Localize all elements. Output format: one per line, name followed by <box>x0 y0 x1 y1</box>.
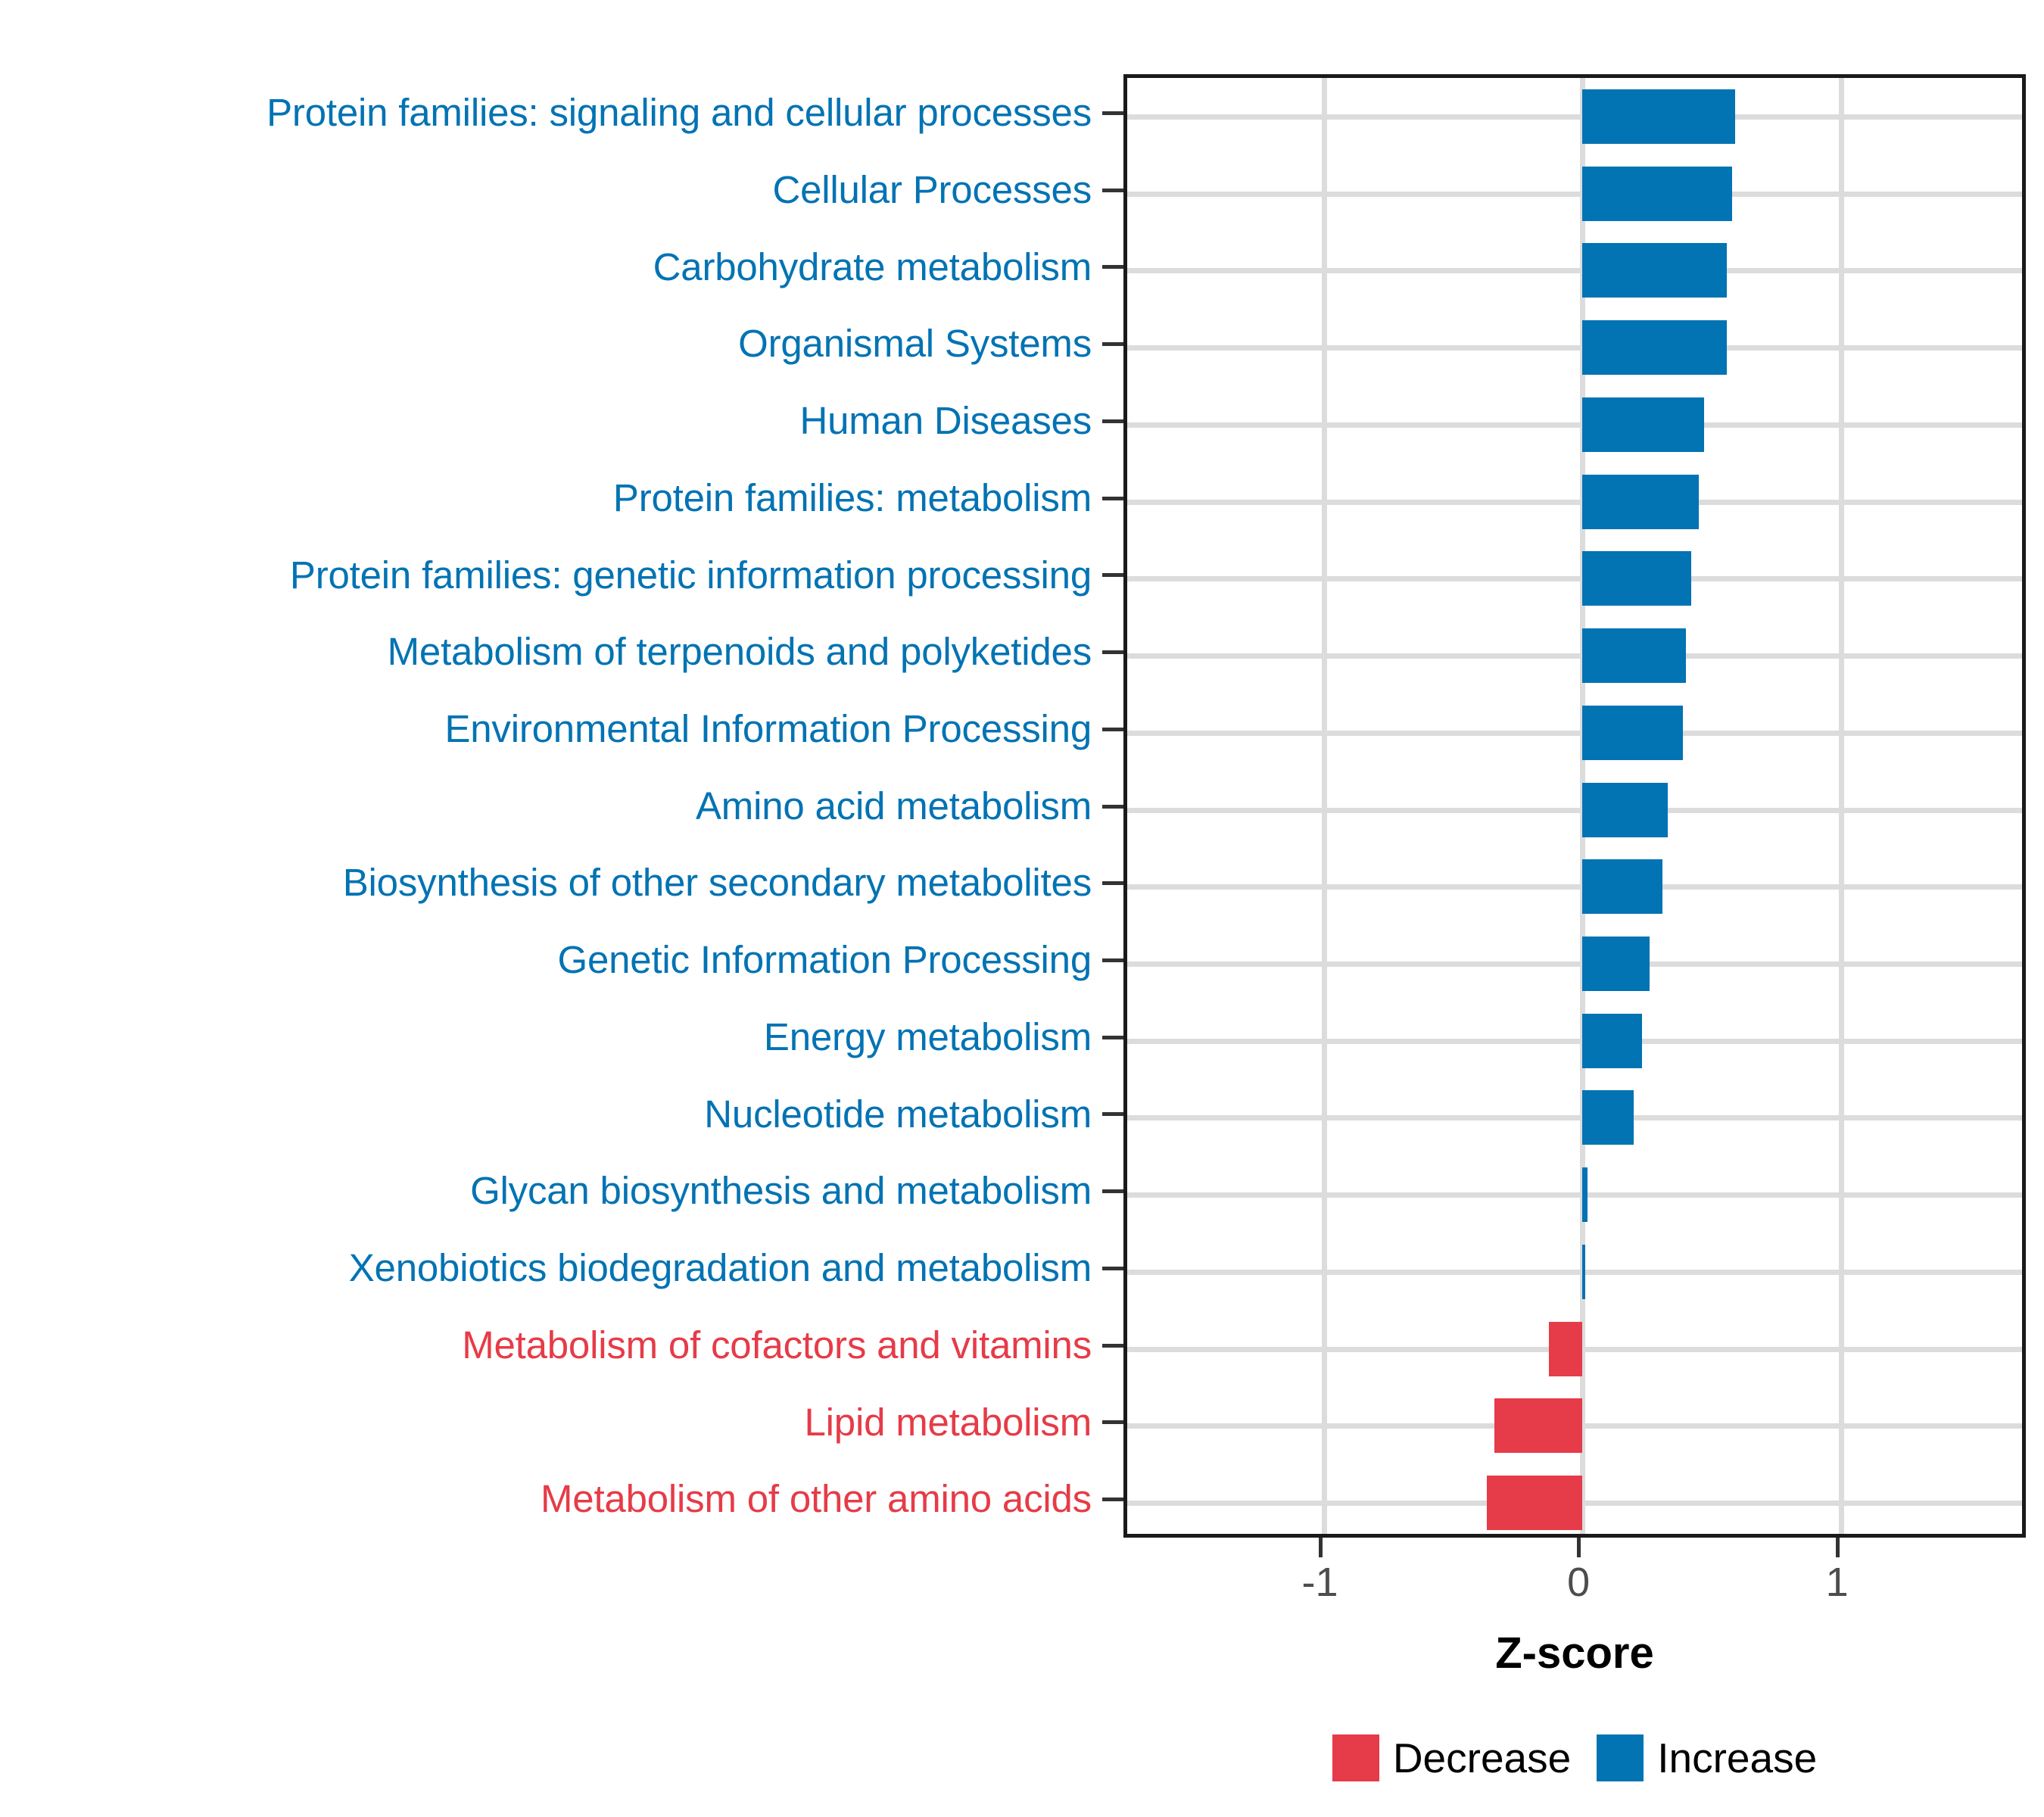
y-axis-tick-label: Lipid metabolism <box>805 1402 1092 1443</box>
y-axis-tick-mark <box>1102 1498 1123 1501</box>
gridline-horizontal <box>1127 961 2022 967</box>
plot-area <box>1127 78 2022 1534</box>
gridline-horizontal <box>1127 1192 2022 1198</box>
bar-increase <box>1582 243 1727 298</box>
y-axis-tick-mark <box>1102 342 1123 346</box>
bar-increase <box>1582 89 1735 144</box>
bar-decrease <box>1549 1322 1582 1376</box>
y-axis-tick-mark <box>1102 958 1123 962</box>
y-axis-tick-mark <box>1102 497 1123 500</box>
gridline-horizontal <box>1127 114 2022 120</box>
y-axis-category-labels: Protein families: signaling and cellular… <box>0 74 1102 1538</box>
bar-increase <box>1582 706 1683 760</box>
plot-panel <box>1123 74 2026 1538</box>
legend-swatch-icon <box>1597 1734 1644 1781</box>
legend-label: Decrease <box>1393 1734 1571 1782</box>
y-axis-tick-row: Metabolism of terpenoids and polyketides <box>0 613 1102 690</box>
gridline-vertical <box>1839 78 1844 1534</box>
x-axis-tick-mark <box>1577 1538 1581 1557</box>
x-axis-tick-label: -1 <box>1302 1559 1338 1606</box>
y-axis-tick-label: Xenobiotics biodegradation and metabolis… <box>349 1248 1092 1289</box>
y-axis-tick-row: Energy metabolism <box>0 999 1102 1076</box>
bar-increase <box>1582 167 1732 221</box>
gridline-vertical <box>1322 78 1327 1534</box>
y-axis-tick-label: Protein families: signaling and cellular… <box>266 92 1092 133</box>
y-axis-tick-row: Organismal Systems <box>0 305 1102 382</box>
y-axis-tick-mark <box>1102 728 1123 731</box>
legend-item[interactable]: Decrease <box>1332 1734 1571 1782</box>
y-axis-tick-label: Organismal Systems <box>738 323 1092 364</box>
y-axis-tick-mark <box>1102 111 1123 115</box>
y-axis-tick-label: Amino acid metabolism <box>696 786 1092 827</box>
gridline-horizontal <box>1127 576 2022 581</box>
y-axis-tick-row: Xenobiotics biodegradation and metabolis… <box>0 1230 1102 1307</box>
chart-legend: DecreaseIncrease <box>1123 1734 2026 1782</box>
bar-chart-figure: Protein families: signaling and cellular… <box>0 0 2044 1817</box>
y-axis-tick-label: Environmental Information Processing <box>444 709 1092 750</box>
bar-increase <box>1582 475 1699 529</box>
y-axis-tick-row: Environmental Information Processing <box>0 690 1102 768</box>
y-axis-tick-row: Metabolism of cofactors and vitamins <box>0 1307 1102 1384</box>
y-axis-tick-row: Glycan biosynthesis and metabolism <box>0 1152 1102 1230</box>
x-axis-tick-label: 1 <box>1826 1559 1849 1606</box>
bar-increase <box>1582 628 1686 683</box>
y-axis-tick-label: Glycan biosynthesis and metabolism <box>470 1170 1092 1211</box>
legend-item[interactable]: Increase <box>1597 1734 1817 1782</box>
y-axis-tick-mark <box>1102 265 1123 269</box>
y-axis-tick-label: Genetic Information Processing <box>557 940 1092 980</box>
gridline-horizontal <box>1127 500 2022 505</box>
x-axis-tick-mark <box>1836 1538 1840 1557</box>
y-axis-tick-label: Cellular Processes <box>772 170 1092 210</box>
legend-label: Increase <box>1657 1734 1817 1782</box>
y-axis-tick-row: Nucleotide metabolism <box>0 1076 1102 1153</box>
gridline-horizontal <box>1127 422 2022 428</box>
x-axis: -101 <box>1123 1538 2026 1628</box>
gridline-horizontal <box>1127 268 2022 273</box>
y-axis-tick-row: Carbohydrate metabolism <box>0 228 1102 305</box>
bar-increase <box>1582 397 1704 452</box>
bar-decrease <box>1487 1476 1582 1530</box>
y-axis-tick-row: Protein families: genetic information pr… <box>0 536 1102 613</box>
y-axis-tick-row: Protein families: metabolism <box>0 460 1102 537</box>
y-axis-tick-mark <box>1102 1420 1123 1424</box>
y-axis-tick-row: Protein families: signaling and cellular… <box>0 74 1102 151</box>
gridline-horizontal <box>1127 731 2022 736</box>
x-axis-tick-label: 0 <box>1567 1559 1590 1606</box>
gridline-horizontal <box>1127 884 2022 890</box>
y-axis-tick-label: Metabolism of other amino acids <box>541 1479 1092 1519</box>
gridline-horizontal <box>1127 1115 2022 1120</box>
y-axis-tick-mark <box>1102 189 1123 192</box>
y-axis-tick-mark <box>1102 1344 1123 1348</box>
y-axis-tick-mark <box>1102 1112 1123 1116</box>
bar-increase <box>1582 551 1690 606</box>
bar-increase <box>1582 1167 1588 1222</box>
gridline-horizontal <box>1127 808 2022 813</box>
y-axis-tick-label: Metabolism of terpenoids and polyketides <box>388 631 1092 672</box>
bar-increase <box>1582 1245 1585 1299</box>
y-axis-tick-mark <box>1102 573 1123 577</box>
bar-increase <box>1582 937 1650 991</box>
y-axis-tick-mark <box>1102 650 1123 654</box>
x-axis-tick-mark <box>1319 1538 1323 1557</box>
bar-increase <box>1582 1014 1642 1068</box>
y-axis-tick-label: Carbohydrate metabolism <box>653 247 1092 288</box>
y-axis-tick-row: Lipid metabolism <box>0 1384 1102 1461</box>
bar-increase <box>1582 1090 1634 1145</box>
bar-increase <box>1582 320 1727 375</box>
y-axis-tick-mark <box>1102 1267 1123 1270</box>
gridline-horizontal <box>1127 1039 2022 1044</box>
y-axis-tick-row: Human Diseases <box>0 382 1102 460</box>
y-axis-tick-label: Energy metabolism <box>764 1017 1092 1058</box>
y-axis-tick-mark <box>1102 1189 1123 1193</box>
bar-increase <box>1582 859 1662 914</box>
gridline-horizontal <box>1127 192 2022 197</box>
y-axis-tick-label: Protein families: metabolism <box>613 478 1092 519</box>
y-axis-tick-row: Metabolism of other amino acids <box>0 1460 1102 1538</box>
y-axis-tick-label: Human Diseases <box>799 400 1092 441</box>
gridline-horizontal <box>1127 653 2022 659</box>
bar-decrease <box>1494 1398 1582 1453</box>
legend-swatch-icon <box>1332 1734 1379 1781</box>
y-axis-tick-label: Biosynthesis of other secondary metaboli… <box>343 862 1092 903</box>
y-axis-tick-mark <box>1102 419 1123 423</box>
gridline-horizontal <box>1127 1270 2022 1275</box>
x-axis-title: Z-score <box>1123 1628 2026 1678</box>
y-axis-tick-row: Amino acid metabolism <box>0 768 1102 845</box>
y-axis-tick-mark <box>1102 805 1123 809</box>
y-axis-tick-mark <box>1102 1036 1123 1039</box>
y-axis-tick-row: Cellular Processes <box>0 151 1102 229</box>
y-axis-tick-row: Genetic Information Processing <box>0 921 1102 999</box>
y-axis-tick-mark <box>1102 881 1123 885</box>
y-axis-tick-label: Protein families: genetic information pr… <box>290 555 1092 596</box>
y-axis-tick-label: Metabolism of cofactors and vitamins <box>462 1325 1092 1366</box>
y-axis-tick-row: Biosynthesis of other secondary metaboli… <box>0 844 1102 921</box>
gridline-horizontal <box>1127 345 2022 351</box>
bar-increase <box>1582 783 1668 837</box>
y-axis-tick-label: Nucleotide metabolism <box>704 1094 1092 1135</box>
